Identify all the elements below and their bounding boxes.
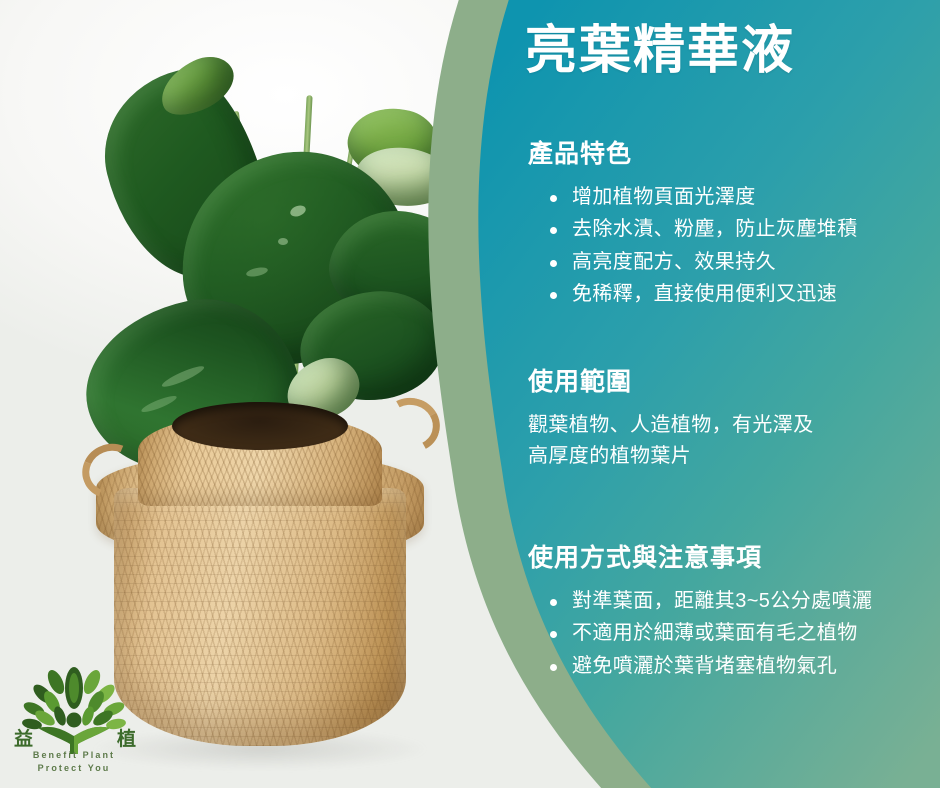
brand-logo: 益 植 Benefit Plant Protect You: [8, 662, 140, 784]
list-item: 避免噴灑於葉背堵塞植物氣孔: [550, 651, 872, 681]
logo-tagline-line1: Benefit Plant: [8, 750, 140, 760]
logo-cn-right: 植: [117, 724, 136, 751]
logo-tagline-line2: Protect You: [8, 763, 140, 773]
section-usage: 使用方式與注意事項 對準葉面，距離其3~5公分處噴灑 不適用於細薄或葉面有毛之植…: [528, 538, 872, 683]
list-item: 對準葉面，距離其3~5公分處噴灑: [550, 586, 872, 616]
list-item: 不適用於細薄或葉面有毛之植物: [550, 618, 872, 648]
list-item: 免稀釋，直接使用便利又迅速: [550, 279, 858, 309]
usage-heading: 使用方式與注意事項: [528, 538, 872, 574]
scope-body-line2: 高厚度的植物葉片: [528, 441, 814, 472]
product-infographic-poster: 亮葉精華液 產品特色 增加植物頁面光澤度 去除水漬、粉塵，防止灰塵堆積 高亮度配…: [0, 0, 940, 788]
list-item: 去除水漬、粉塵，防止灰塵堆積: [550, 214, 858, 244]
features-heading: 產品特色: [528, 134, 858, 170]
usage-bullet-list: 對準葉面，距離其3~5公分處噴灑 不適用於細薄或葉面有毛之植物 避免噴灑於葉背堵…: [528, 586, 872, 681]
text-content-layer: 亮葉精華液 產品特色 增加植物頁面光澤度 去除水漬、粉塵，防止灰塵堆積 高亮度配…: [0, 0, 940, 788]
list-item: 增加植物頁面光澤度: [550, 182, 858, 212]
section-scope: 使用範圍 觀葉植物、人造植物，有光澤及 高厚度的植物葉片: [528, 362, 814, 472]
logo-cn-left: 益: [14, 724, 33, 751]
product-title: 亮葉精華液: [525, 22, 795, 80]
scope-body-line1: 觀葉植物、人造植物，有光澤及: [528, 410, 814, 441]
list-item: 高亮度配方、效果持久: [550, 247, 858, 277]
logo-chinese-name: 益 植: [14, 724, 136, 751]
features-bullet-list: 增加植物頁面光澤度 去除水漬、粉塵，防止灰塵堆積 高亮度配方、效果持久 免稀釋，…: [528, 182, 858, 310]
scope-heading: 使用範圍: [528, 362, 814, 398]
section-features: 產品特色 增加植物頁面光澤度 去除水漬、粉塵，防止灰塵堆積 高亮度配方、效果持久…: [528, 134, 858, 312]
